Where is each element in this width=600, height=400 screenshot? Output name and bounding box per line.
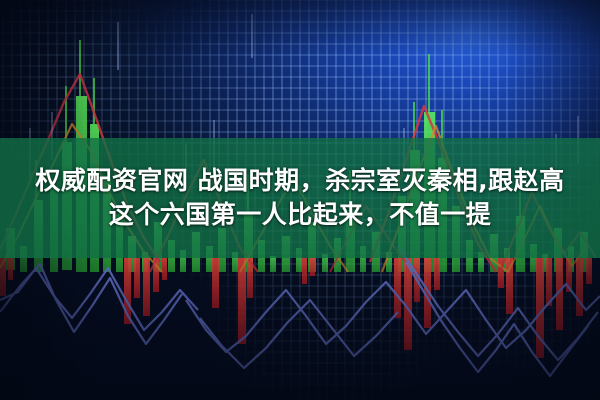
finance-banner: 权威配资官网 战国时期，杀宗室灭秦相,跟赵高 这个六国第一人比起来，不值一提: [0, 0, 600, 400]
headline-block: 权威配资官网 战国时期，杀宗室灭秦相,跟赵高 这个六国第一人比起来，不值一提: [0, 138, 600, 258]
headline-line-1: 权威配资官网 战国时期，杀宗室灭秦相,跟赵高: [35, 167, 564, 195]
headline-line-2: 这个六国第一人比起来，不值一提: [109, 201, 492, 229]
